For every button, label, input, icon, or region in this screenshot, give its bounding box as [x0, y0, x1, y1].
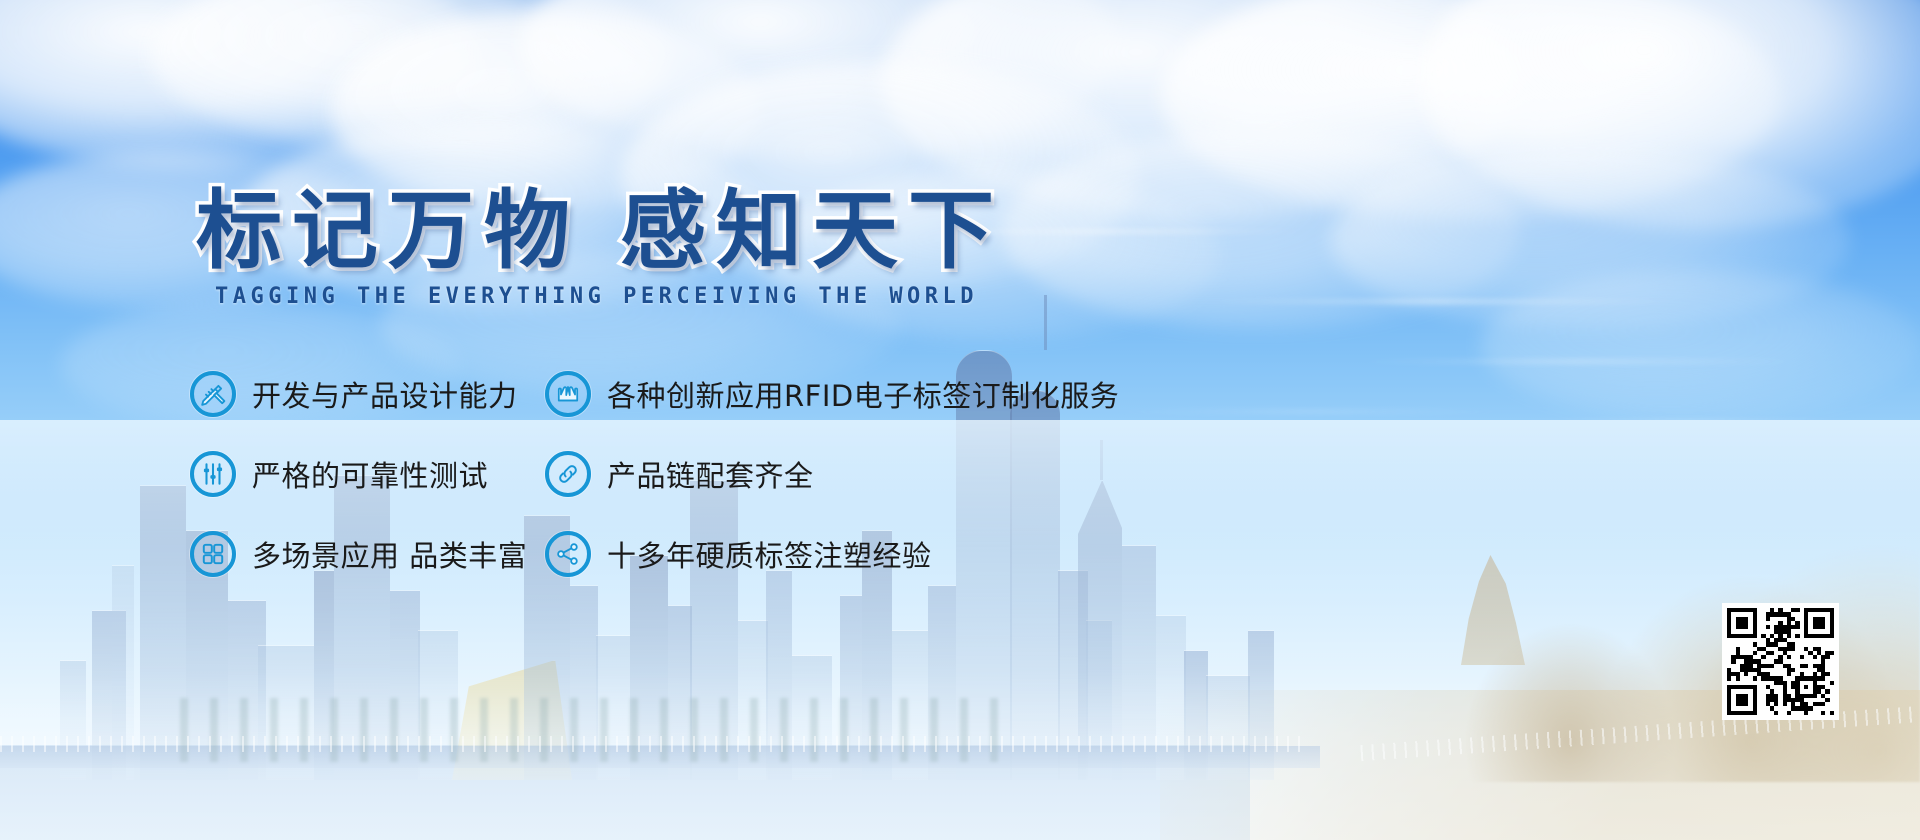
share-nodes-icon: [545, 531, 591, 577]
feature-item: 十多年硬质标签注塑经验: [545, 514, 932, 594]
headline: 标记万物 感知天下: [196, 160, 1004, 285]
qr-code-pattern: [1727, 608, 1834, 715]
feature-row: 开发与产品设计能力 各种创新应用RFID电子标签订制化服务: [190, 354, 1250, 434]
pen-ruler-icon: [190, 371, 236, 417]
feature-item: 开发与产品设计能力: [190, 354, 518, 434]
promotional-banner: 标记万物 感知天下 TAGGING THE EVERYTHING PERCEIV…: [0, 0, 1920, 840]
link-chain-icon: [545, 451, 591, 497]
feature-row: 严格的可靠性测试 产品链配套齐全: [190, 434, 1250, 514]
feature-label: 各种创新应用RFID电子标签订制化服务: [607, 373, 1119, 415]
feature-label: 十多年硬质标签注塑经验: [607, 533, 932, 575]
crown-icon: [545, 371, 591, 417]
grid-squares-icon: [190, 531, 236, 577]
subtitle: TAGGING THE EVERYTHING PERCEIVING THE WO…: [215, 284, 978, 309]
sliders-icon: [190, 451, 236, 497]
feature-label: 产品链配套齐全: [607, 453, 814, 495]
feature-item: 多场景应用 品类丰富: [190, 514, 527, 594]
feature-column-left: 严格的可靠性测试: [190, 434, 545, 514]
feature-column-right: 各种创新应用RFID电子标签订制化服务: [545, 354, 1185, 434]
qr-code[interactable]: [1722, 603, 1839, 720]
feature-item: 各种创新应用RFID电子标签订制化服务: [545, 354, 1119, 434]
feature-label: 开发与产品设计能力: [252, 373, 518, 415]
feature-item: 产品链配套齐全: [545, 434, 814, 514]
feature-column-right: 十多年硬质标签注塑经验: [545, 514, 1185, 594]
feature-column-left: 多场景应用 品类丰富: [190, 514, 545, 594]
feature-column-right: 产品链配套齐全: [545, 434, 1185, 514]
feature-item: 严格的可靠性测试: [190, 434, 488, 514]
feature-list: 开发与产品设计能力 各种创新应用RFID电子标签订制化服务: [190, 354, 1250, 594]
feature-column-left: 开发与产品设计能力: [190, 354, 545, 434]
feature-label: 多场景应用 品类丰富: [252, 533, 527, 575]
banner-content: 标记万物 感知天下 TAGGING THE EVERYTHING PERCEIV…: [0, 0, 1920, 840]
feature-row: 多场景应用 品类丰富 十多年硬质标签注塑经验: [190, 514, 1250, 594]
feature-label: 严格的可靠性测试: [252, 453, 488, 495]
